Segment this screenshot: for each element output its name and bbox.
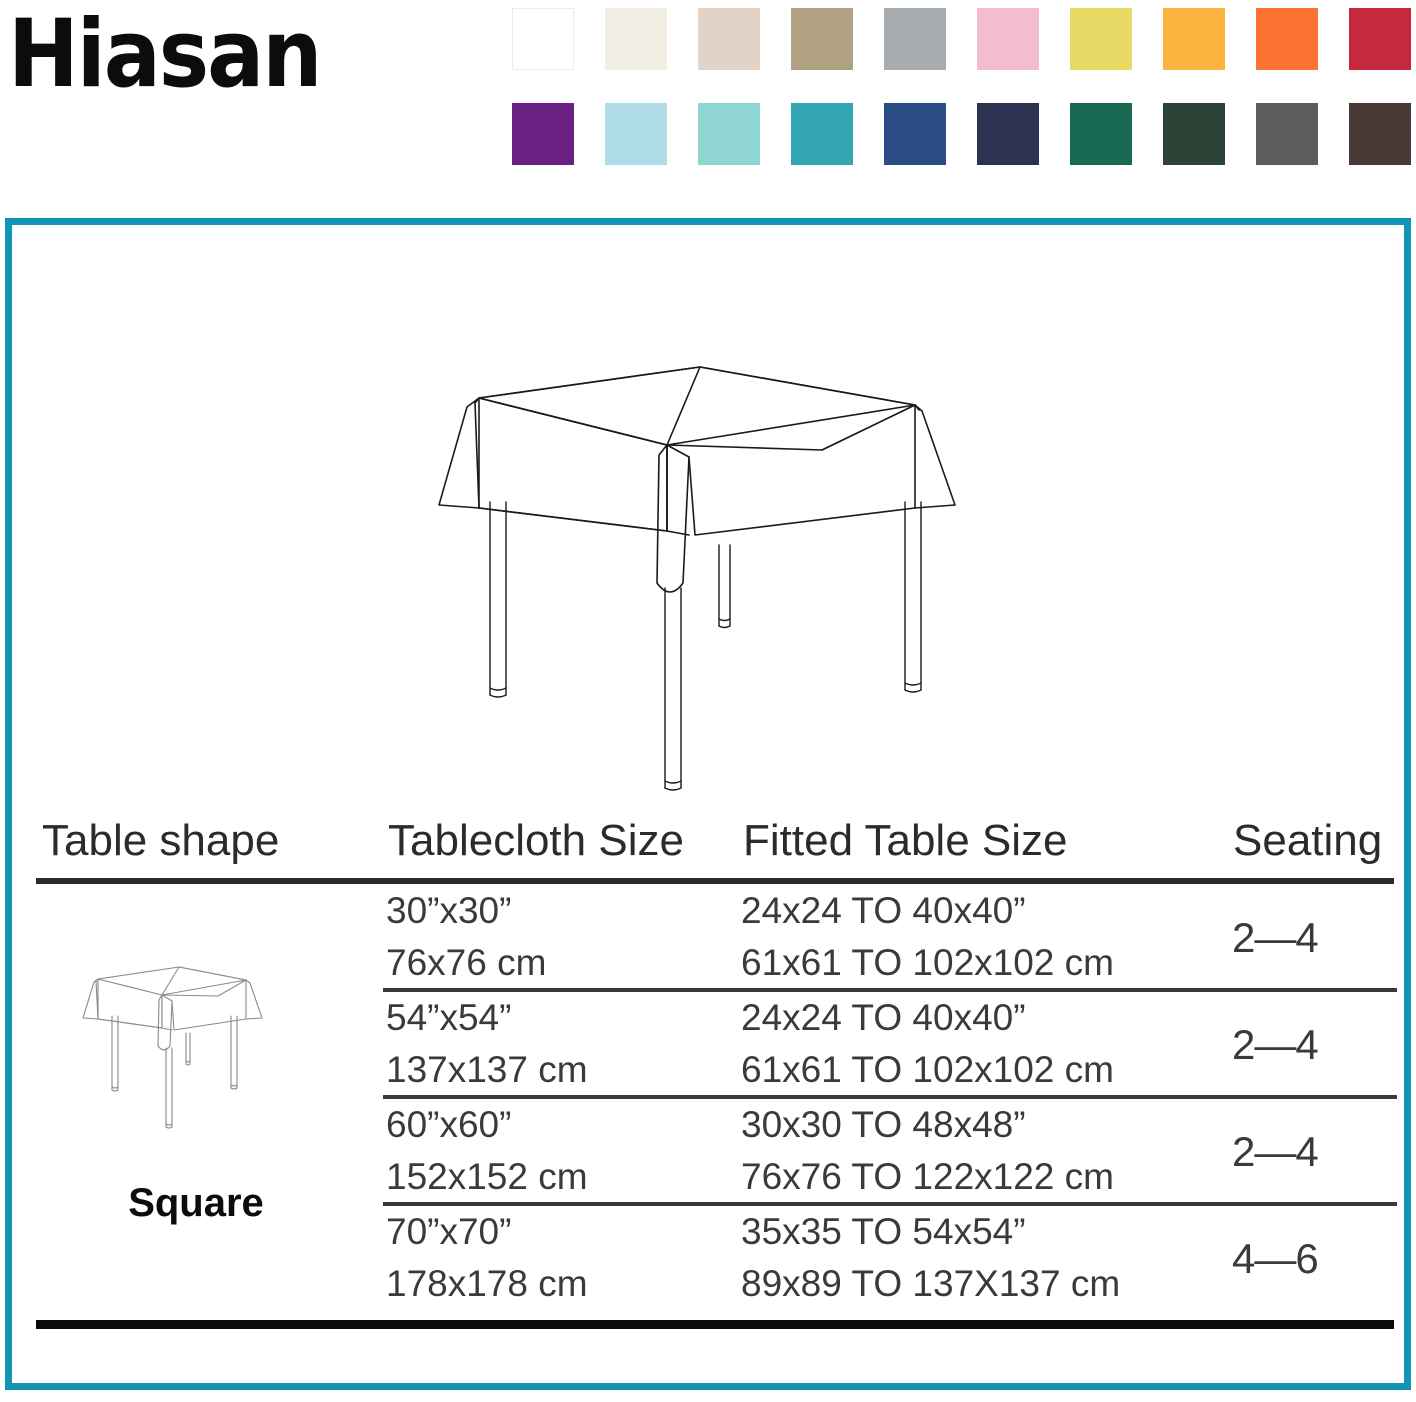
cell-seating: 2—4	[1232, 914, 1318, 962]
color-swatch-red[interactable]	[1349, 8, 1411, 70]
swatch-row-2	[512, 103, 1410, 165]
cell-tablecloth-cm: 152x152 cm	[386, 1156, 588, 1198]
cell-fitted-inches: 24x24 TO 40x40”	[741, 997, 1026, 1039]
color-swatch-dark-navy[interactable]	[977, 103, 1039, 165]
color-swatch-khaki[interactable]	[791, 8, 853, 70]
cell-seating: 2—4	[1232, 1021, 1318, 1069]
color-swatch-ivory[interactable]	[605, 8, 667, 70]
color-swatch-brown[interactable]	[1349, 103, 1411, 165]
square-table-illustration	[427, 345, 977, 805]
color-swatch-turquoise[interactable]	[791, 103, 853, 165]
color-swatch-green[interactable]	[1070, 103, 1132, 165]
color-swatch-charcoal[interactable]	[1256, 103, 1318, 165]
color-swatch-navy-blue[interactable]	[884, 103, 946, 165]
column-header-table-shape: Table shape	[42, 810, 279, 872]
swatch-row-1	[512, 8, 1410, 70]
cell-fitted-cm: 76x76 TO 122x122 cm	[741, 1156, 1114, 1198]
color-swatch-white[interactable]	[512, 8, 574, 70]
brand-logo: Hiasan	[8, 8, 320, 102]
color-swatch-orange[interactable]	[1256, 8, 1318, 70]
cell-tablecloth-inches: 70”x70”	[386, 1211, 511, 1253]
cell-fitted-inches: 24x24 TO 40x40”	[741, 890, 1026, 932]
info-panel: Table shape Tablecloth Size Fitted Table…	[5, 218, 1411, 1390]
cell-tablecloth-inches: 30”x30”	[386, 890, 511, 932]
square-table-icon	[76, 960, 316, 1175]
color-swatch-light-blue[interactable]	[605, 103, 667, 165]
cell-fitted-inches: 35x35 TO 54x54”	[741, 1211, 1026, 1253]
cell-fitted-cm: 61x61 TO 102x102 cm	[741, 1049, 1114, 1091]
color-swatch-aqua[interactable]	[698, 103, 760, 165]
shape-label: Square	[36, 1181, 356, 1226]
cell-tablecloth-cm: 178x178 cm	[386, 1263, 588, 1305]
color-swatch-purple[interactable]	[512, 103, 574, 165]
table-bottom-rule	[36, 1320, 1394, 1329]
cell-tablecloth-inches: 54”x54”	[386, 997, 511, 1039]
cell-fitted-cm: 89x89 TO 137X137 cm	[741, 1263, 1120, 1305]
cell-fitted-cm: 61x61 TO 102x102 cm	[741, 942, 1114, 984]
cell-seating: 4—6	[1232, 1235, 1318, 1283]
color-swatch-yellow[interactable]	[1070, 8, 1132, 70]
cell-seating: 2—4	[1232, 1128, 1318, 1176]
cell-tablecloth-cm: 137x137 cm	[386, 1049, 588, 1091]
color-swatch-beige[interactable]	[698, 8, 760, 70]
table-shape-cell: Square	[36, 960, 356, 1226]
header-band: Hiasan	[0, 0, 1416, 200]
table-header-row: Table shape Tablecloth Size Fitted Table…	[36, 810, 1394, 872]
color-swatch-grid	[512, 8, 1410, 168]
cell-tablecloth-inches: 60”x60”	[386, 1104, 511, 1146]
color-swatch-gold[interactable]	[1163, 8, 1225, 70]
cell-tablecloth-cm: 76x76 cm	[386, 942, 546, 984]
column-header-fitted-table-size: Fitted Table Size	[743, 810, 1067, 872]
column-header-tablecloth-size: Tablecloth Size	[388, 810, 684, 872]
column-header-seating: Seating	[1233, 810, 1382, 872]
cell-fitted-inches: 30x30 TO 48x48”	[741, 1104, 1026, 1146]
color-swatch-dark-green[interactable]	[1163, 103, 1225, 165]
color-swatch-pink[interactable]	[977, 8, 1039, 70]
color-swatch-grey[interactable]	[884, 8, 946, 70]
